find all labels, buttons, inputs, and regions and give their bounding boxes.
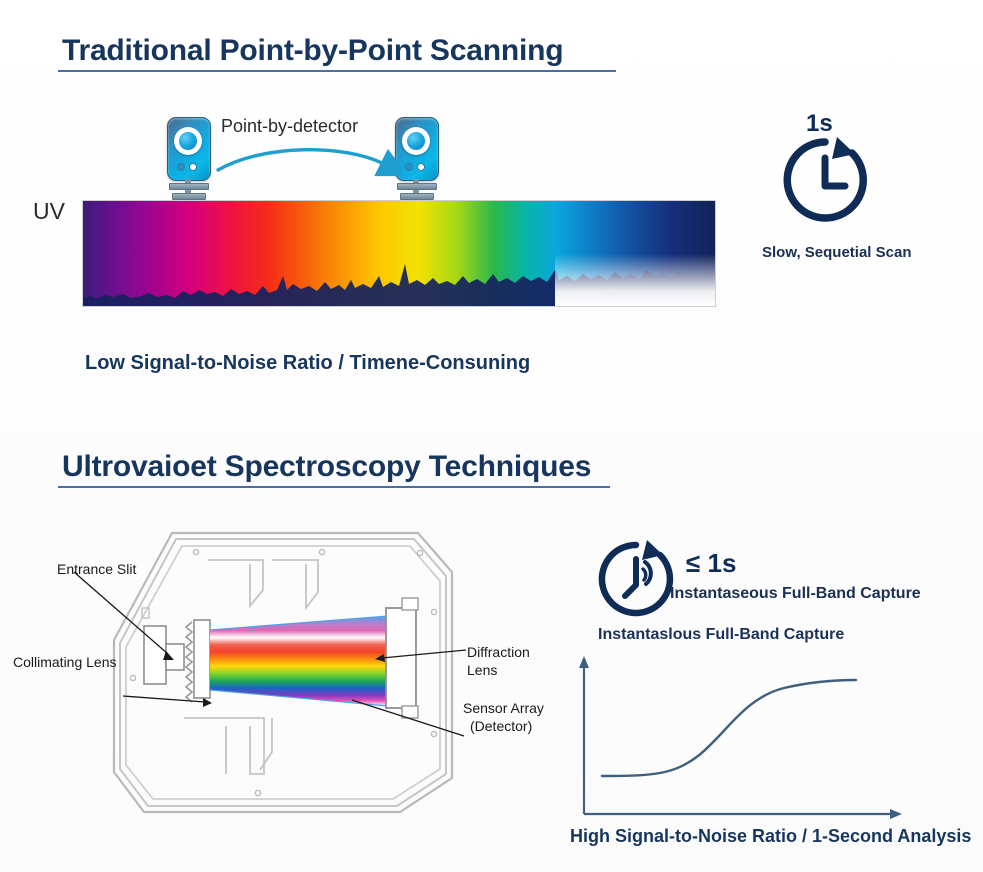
clock-fast-icon xyxy=(595,538,677,620)
diagram-leader-lines xyxy=(40,550,480,810)
spectrum-band xyxy=(82,200,716,307)
camera-lens xyxy=(407,132,425,150)
spectrum-fade-overlay xyxy=(555,254,715,306)
camera-detector-icon-left xyxy=(163,117,213,205)
camera-indicator-dot xyxy=(177,163,185,171)
panel-two-title: Ultrovaioet Spectroscopy Techniques xyxy=(62,450,591,484)
label-sensor-array-line2: (Detector) xyxy=(470,718,532,734)
scan-speed-label: Slow, Sequetial Scan xyxy=(762,244,912,261)
panel-uv-spectroscopy: Ultrovaioet Spectroscopy Techniques xyxy=(0,420,983,872)
label-diffraction-lens-line1: Diffraction xyxy=(467,644,530,660)
label-collimating-lens: Collimating Lens xyxy=(13,654,117,670)
panel-traditional-scanning: Traditional Point-by-Point Scanning Poin… xyxy=(0,0,983,420)
scan-direction-arrow-icon xyxy=(212,138,402,188)
panel-one-title: Traditional Point-by-Point Scanning xyxy=(62,34,563,68)
camera-lens xyxy=(179,132,197,150)
label-sensor-array-line1: Sensor Array xyxy=(463,700,544,716)
panel-one-caption: Low Signal-to-Noise Ratio / Timene-Consu… xyxy=(85,352,530,375)
camera-stand-plate xyxy=(169,183,209,190)
camera-indicator-dot xyxy=(417,163,425,171)
arrow-label: Point-by-detector xyxy=(221,116,358,137)
clock-rotate-icon xyxy=(779,134,871,226)
camera-stand-plate xyxy=(397,183,437,190)
panel-two-caption: High Signal-to-Noise Ratio / 1-Second An… xyxy=(570,826,971,847)
label-diffraction-lens-line2: Lens xyxy=(467,662,497,678)
label-entrance-slit: Entrance Slit xyxy=(57,561,136,577)
camera-stand-base xyxy=(172,193,206,200)
panel-one-title-underline xyxy=(58,70,616,72)
capture-time-value: ≤ 1s xyxy=(686,548,736,579)
capture-speed-label: Instantaseous Full-Band Capture xyxy=(670,585,921,603)
camera-stand-base xyxy=(400,193,434,200)
panel-two-sub-caption: Instantaslous Full-Band Capture xyxy=(598,626,844,644)
snr-response-chart xyxy=(570,652,910,832)
panel-two-title-underline xyxy=(58,486,610,488)
camera-indicator-dot xyxy=(189,163,197,171)
uv-axis-label: UV xyxy=(33,198,65,225)
camera-indicator-dot xyxy=(405,163,413,171)
